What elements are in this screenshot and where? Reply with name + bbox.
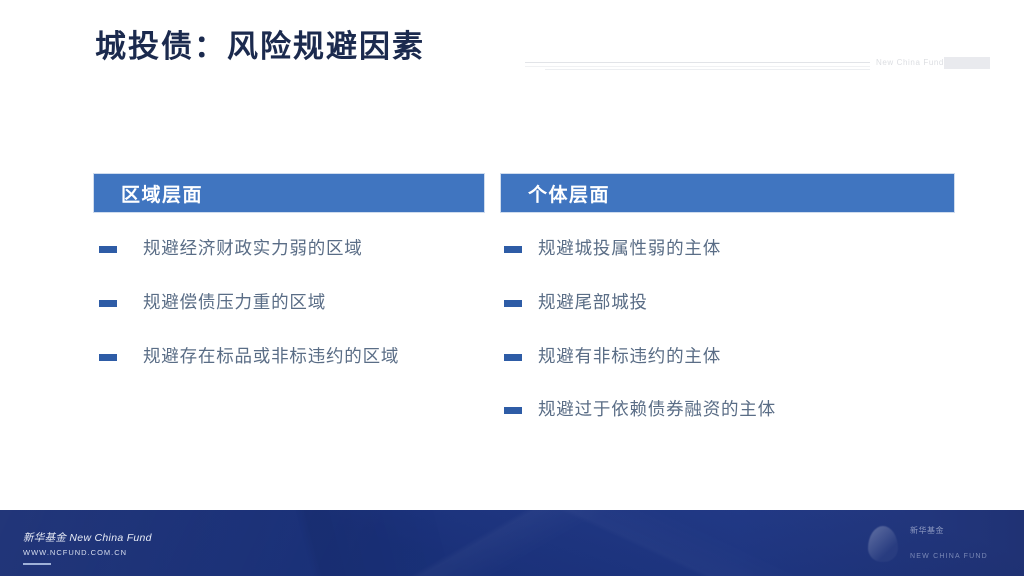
list-item-label: 规避有非标违约的主体 bbox=[538, 345, 721, 368]
bullet-list-regional: 规避经济财政实力弱的区域 规避偿债压力重的区域 规避存在标品或非标违约的区域 bbox=[93, 237, 491, 398]
bullet-list-individual: 规避城投属性弱的主体 规避尾部城投 规避有非标违约的主体 规避过于依赖债券融资的… bbox=[500, 237, 959, 452]
slide-canvas: 城投债：风险规避因素 New China Fund 区域层面 规避经济财政实力弱… bbox=[0, 0, 1024, 576]
list-item: 规避过于依赖债券融资的主体 bbox=[504, 398, 959, 421]
bullet-dash-icon bbox=[99, 300, 117, 307]
bullet-dash-icon bbox=[99, 354, 117, 361]
list-item-label: 规避城投属性弱的主体 bbox=[538, 237, 721, 260]
panel-header-regional: 区域层面 bbox=[93, 173, 485, 213]
bullet-dash-icon bbox=[99, 246, 117, 253]
panel-regional: 区域层面 规避经济财政实力弱的区域 规避偿债压力重的区域 规避存在标品或非标违约… bbox=[93, 173, 485, 213]
footer-logo-cn-label: 新华基金 bbox=[910, 527, 944, 535]
list-item: 规避尾部城投 bbox=[504, 291, 959, 314]
slide-footer: 新华基金 New China Fund WWW.NCFUND.COM.CN 新华… bbox=[0, 510, 1024, 576]
footer-logo-en-label: NEW CHINA FUND bbox=[910, 553, 988, 560]
bullet-dash-icon bbox=[504, 354, 522, 361]
footer-brand-label: 新华基金 New China Fund bbox=[23, 530, 152, 545]
list-item-label: 规避偿债压力重的区域 bbox=[143, 291, 326, 314]
footer-website-url: WWW.NCFUND.COM.CN bbox=[23, 548, 127, 557]
bullet-dash-icon bbox=[504, 246, 522, 253]
list-item: 规避经济财政实力弱的区域 bbox=[99, 237, 491, 260]
footer-logo: 新华基金 NEW CHINA FUND bbox=[862, 520, 1008, 568]
list-item: 规避偿债压力重的区域 bbox=[99, 291, 491, 314]
company-emblem-icon bbox=[868, 526, 898, 562]
list-item-label: 规避存在标品或非标违约的区域 bbox=[143, 345, 399, 368]
list-item-label: 规避尾部城投 bbox=[538, 291, 648, 314]
page-title: 城投债：风险规避因素 bbox=[95, 28, 425, 67]
list-item: 规避城投属性弱的主体 bbox=[504, 237, 959, 260]
list-item-label: 规避过于依赖债券融资的主体 bbox=[538, 398, 776, 421]
list-item: 规避存在标品或非标违约的区域 bbox=[99, 345, 491, 368]
bullet-dash-icon bbox=[504, 407, 522, 414]
panel-individual: 个体层面 规避城投属性弱的主体 规避尾部城投 规避有非标违约的主体 规避过于依赖… bbox=[500, 173, 955, 213]
header-divider-rule bbox=[525, 62, 870, 67]
panel-header-label-individual: 个体层面 bbox=[501, 180, 610, 207]
header-brand-label: New China Fund bbox=[876, 58, 944, 67]
bullet-dash-icon bbox=[504, 300, 522, 307]
list-item: 规避有非标违约的主体 bbox=[504, 345, 959, 368]
header-brand-block bbox=[944, 57, 990, 69]
panel-header-individual: 个体层面 bbox=[500, 173, 955, 213]
panel-header-label-regional: 区域层面 bbox=[94, 180, 203, 207]
list-item-label: 规避经济财政实力弱的区域 bbox=[143, 237, 363, 260]
footer-accent-underline bbox=[23, 563, 51, 565]
